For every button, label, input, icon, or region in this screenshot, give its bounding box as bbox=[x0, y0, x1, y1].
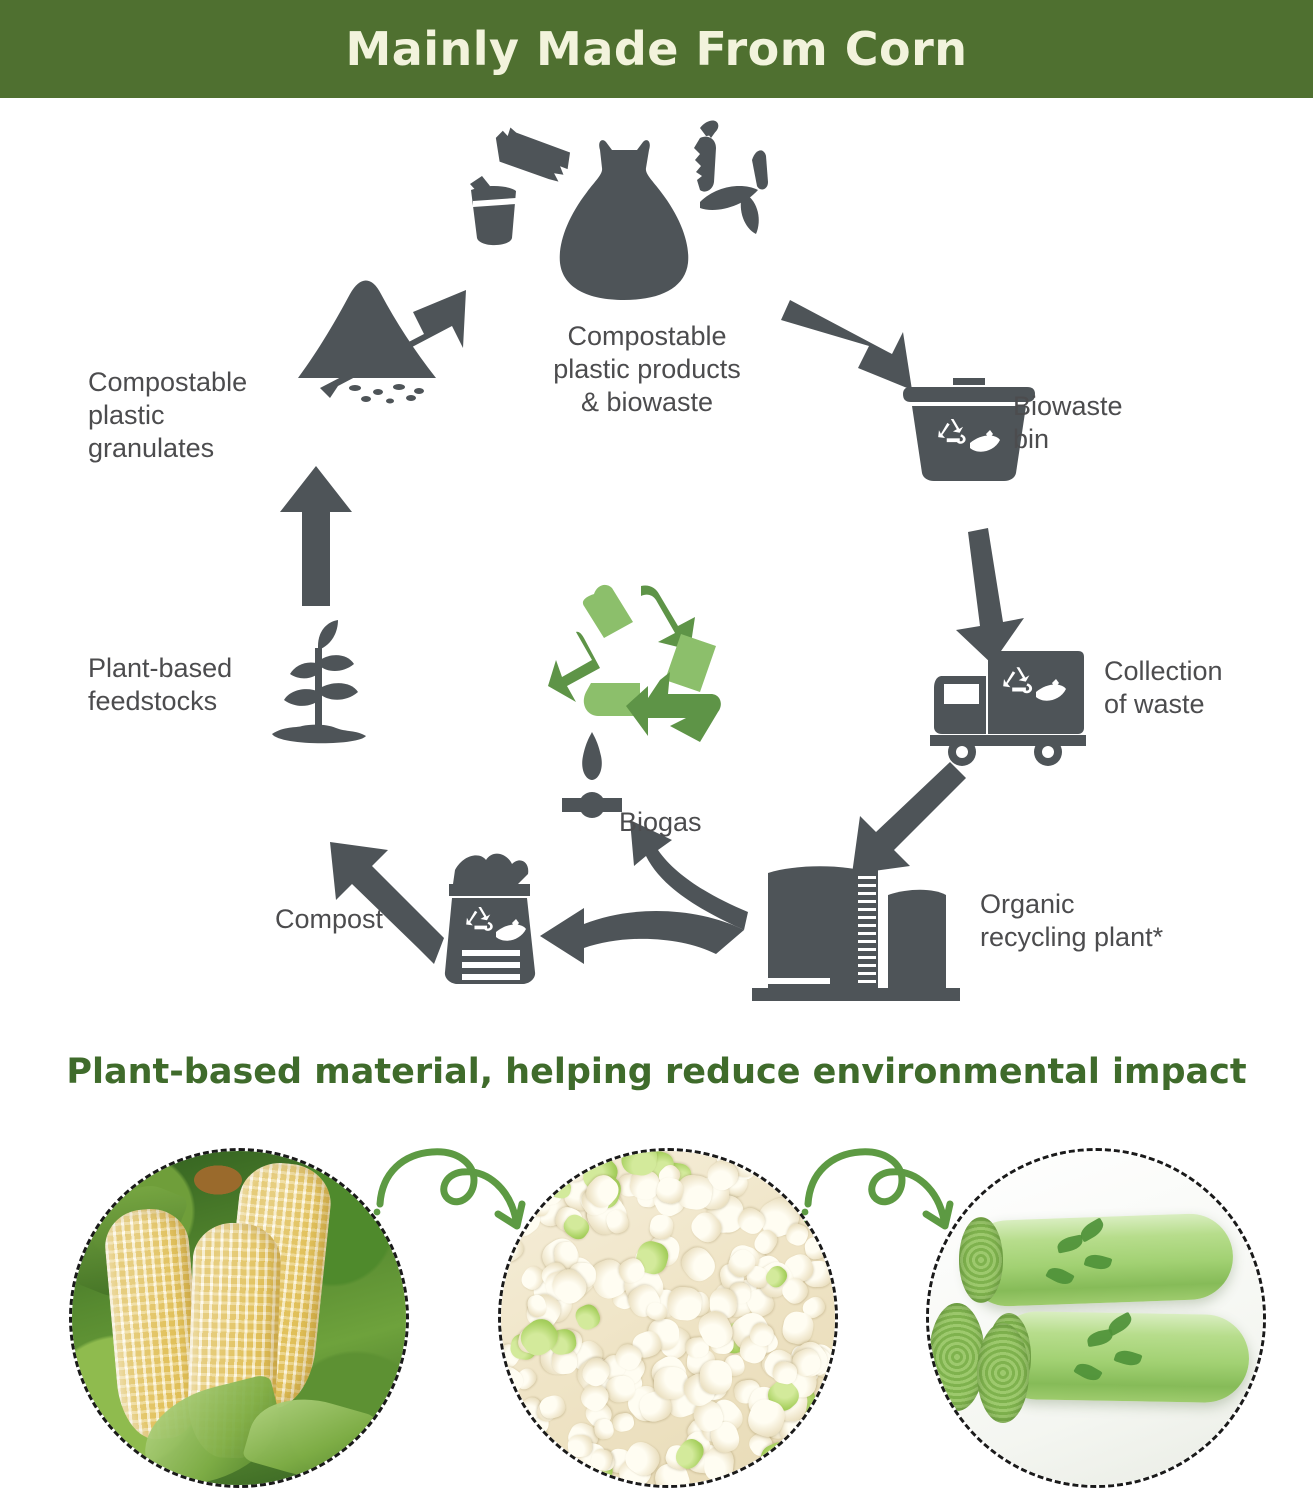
pellet-grain bbox=[654, 1367, 688, 1399]
subtitle-text: Plant-based material, helping reduce env… bbox=[0, 1052, 1313, 1092]
page-title: Mainly Made From Corn bbox=[345, 22, 967, 76]
pellet-grain bbox=[699, 1360, 732, 1394]
collection-truck-icon bbox=[930, 651, 1086, 766]
label-compostable-products: Compostable plastic products & biowaste bbox=[523, 320, 771, 419]
waste-bag-with-biowaste-icon bbox=[470, 119, 768, 300]
arrow-products-to-bin bbox=[781, 300, 912, 390]
recycle-symbol-icon bbox=[548, 585, 721, 742]
photo-compostable-bag-rolls bbox=[926, 1148, 1266, 1488]
biogas-flame-icon bbox=[562, 732, 622, 818]
compost-sack-icon bbox=[445, 854, 535, 984]
recycling-plant-icon bbox=[752, 866, 960, 1001]
label-organic-recycling-plant: Organic recycling plant* bbox=[980, 888, 1230, 954]
label-compost: Compost bbox=[275, 903, 435, 936]
photo-bioplastic-pellets bbox=[498, 1148, 838, 1488]
label-collection-of-waste: Collection of waste bbox=[1104, 655, 1313, 721]
arrow-plant-to-compost-and-biogas bbox=[540, 820, 748, 964]
label-plant-based-feedstocks: Plant-based feedstocks bbox=[88, 652, 298, 718]
arrow-collection-to-plant bbox=[852, 762, 966, 874]
pellet-grain bbox=[567, 1434, 592, 1457]
lifecycle-diagram: Compostable plastic products & biowaste … bbox=[0, 98, 1313, 1028]
pellet-grain bbox=[804, 1148, 838, 1186]
label-biowaste-bin: Biowaste bin bbox=[1013, 390, 1233, 456]
arrow-feedstocks-to-granulates bbox=[280, 466, 352, 606]
header-banner: Mainly Made From Corn bbox=[0, 0, 1313, 98]
material-process-photos bbox=[0, 1130, 1313, 1500]
photo-corn bbox=[69, 1148, 409, 1488]
label-biogas: Biogas bbox=[619, 806, 799, 839]
arrow-bin-to-collection bbox=[956, 528, 1024, 664]
label-compostable-granulates: Compostable plastic granulates bbox=[88, 366, 318, 465]
